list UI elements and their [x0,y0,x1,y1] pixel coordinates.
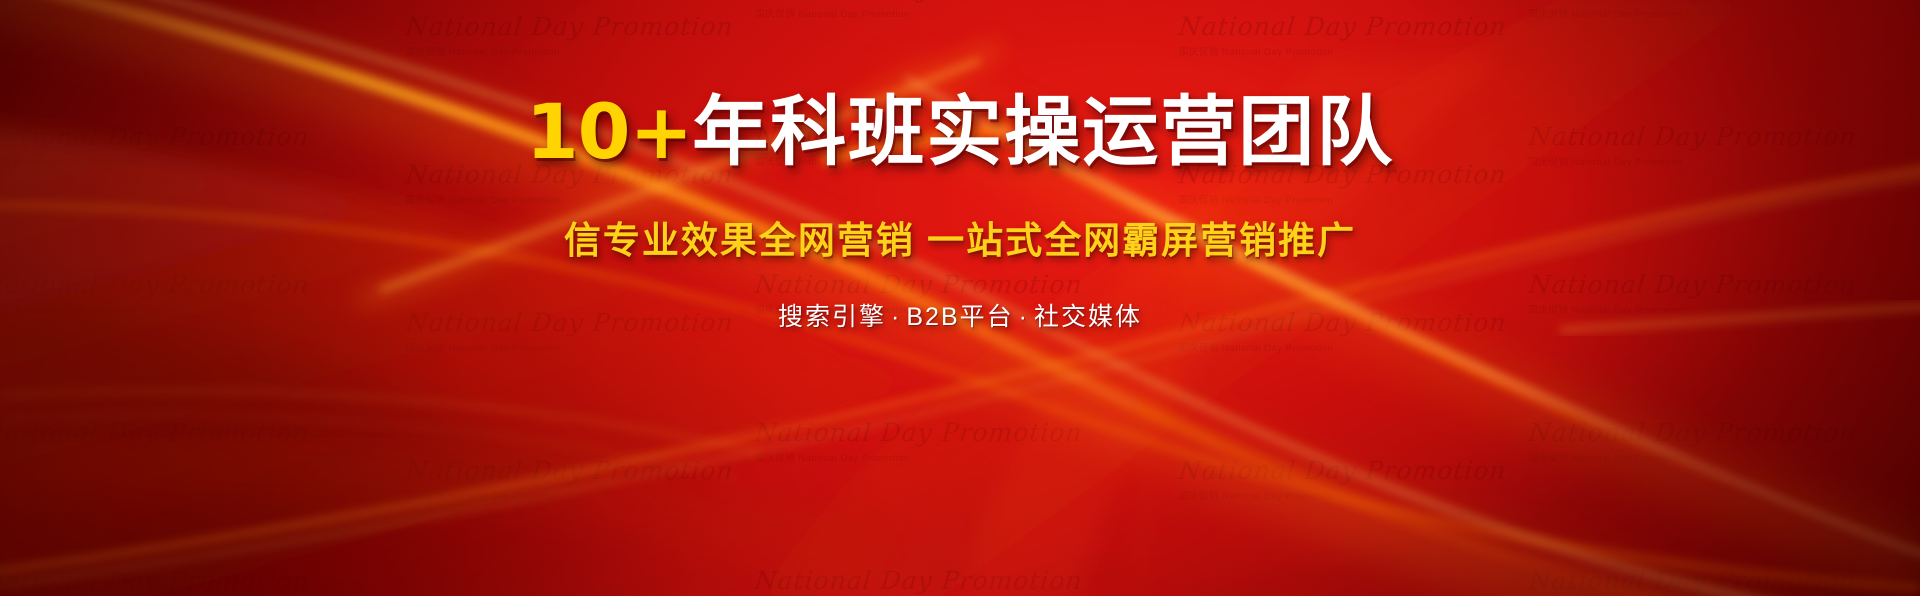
watermark-script-text: National Day Promotion [0,418,311,447]
watermark-script-text: National Day Promotion [1177,456,1508,485]
watermark-sub-text: 国庆促销 National Day Promotion [1179,488,1507,502]
watermark-tile: National Day Promotion国庆促销 National Day … [1083,404,1507,552]
banner-text-content: 10+年科班实操运营团队 信专业效果全网营销 一站式全网霸屏营销推广 搜索引擎·… [0,92,1920,333]
watermark-sub-text: 国庆促销 National Day Promotion [1529,6,1857,20]
watermark-tile: National Day Promotion国庆促销 National Day … [1856,404,1920,552]
banner-headline: 10+年科班实操运营团队 [0,92,1920,174]
watermark-tile: National Day Promotion国庆促销 National Day … [1856,552,1920,596]
banner-tagline: 搜索引擎·B2B平台·社交媒体 [0,297,1920,333]
tagline-separator-icon: · [886,303,906,331]
tagline-item-2: B2B平台 [906,303,1013,331]
watermark-script-text: National Day Promotion [754,418,1085,447]
headline-text: 年科班实操运营团队 [692,90,1394,175]
watermark-sub-text: 国庆促销 National Day Promotion [0,6,310,20]
watermark-script-text: National Day Promotion [1527,0,1858,3]
watermark-sub-text: 国庆促销 National Day Promotion [406,44,734,58]
tagline-item-3: 社交媒体 [1034,303,1142,331]
watermark-script-text: National Day Promotion [404,456,735,485]
tagline-separator-icon: · [1014,303,1034,331]
watermark-script-text: National Day Promotion [0,566,311,595]
watermark-tile: National Day Promotion国庆促销 National Day … [733,552,1083,596]
headline-number: 10+ [526,87,692,176]
watermark-tile: National Day Promotion国庆促销 National Day … [1507,552,1857,596]
watermark-sub-text: 国庆促销 National Day Promotion [1179,44,1507,58]
watermark-sub-text: 国庆促销 National Day Promotion [406,340,734,354]
watermark-sub-text: 国庆促销 National Day Promotion [1179,340,1507,354]
tagline-item-1: 搜索引擎 [778,303,886,331]
watermark-script-text: National Day Promotion [1527,418,1858,447]
watermark-tile: National Day Promotion国庆促销 National Day … [310,404,734,552]
watermark-sub-text: 国庆促销 National Day Promotion [1529,450,1857,464]
promo-banner: National Day Promotion国庆促销 National Day … [0,0,1920,596]
watermark-script-text: National Day Promotion [404,12,735,41]
watermark-script-text: National Day Promotion [1527,566,1858,595]
watermark-script-text: National Day Promotion [754,0,1085,3]
watermark-tile: National Day Promotion国庆促销 National Day … [1083,552,1507,596]
watermark-tile: National Day Promotion国庆促销 National Day … [733,404,1083,552]
watermark-sub-text: 国庆促销 National Day Promotion [0,450,310,464]
watermark-script-text: National Day Promotion [754,566,1085,595]
watermark-sub-text: 国庆促销 National Day Promotion [755,6,1083,20]
watermark-tile: National Day Promotion国庆促销 National Day … [0,552,310,596]
watermark-script-text: National Day Promotion [1177,12,1508,41]
watermark-sub-text: 国庆促销 National Day Promotion [755,450,1083,464]
banner-subline: 信专业效果全网营销 一站式全网霸屏营销推广 [0,210,1920,264]
watermark-tile: National Day Promotion国庆促销 National Day … [310,552,734,596]
watermark-sub-text: 国庆促销 National Day Promotion [406,488,734,502]
watermark-tile: National Day Promotion国庆促销 National Day … [0,404,310,552]
watermark-script-text: National Day Promotion [0,0,311,3]
watermark-tile: National Day Promotion国庆促销 National Day … [1507,404,1857,552]
